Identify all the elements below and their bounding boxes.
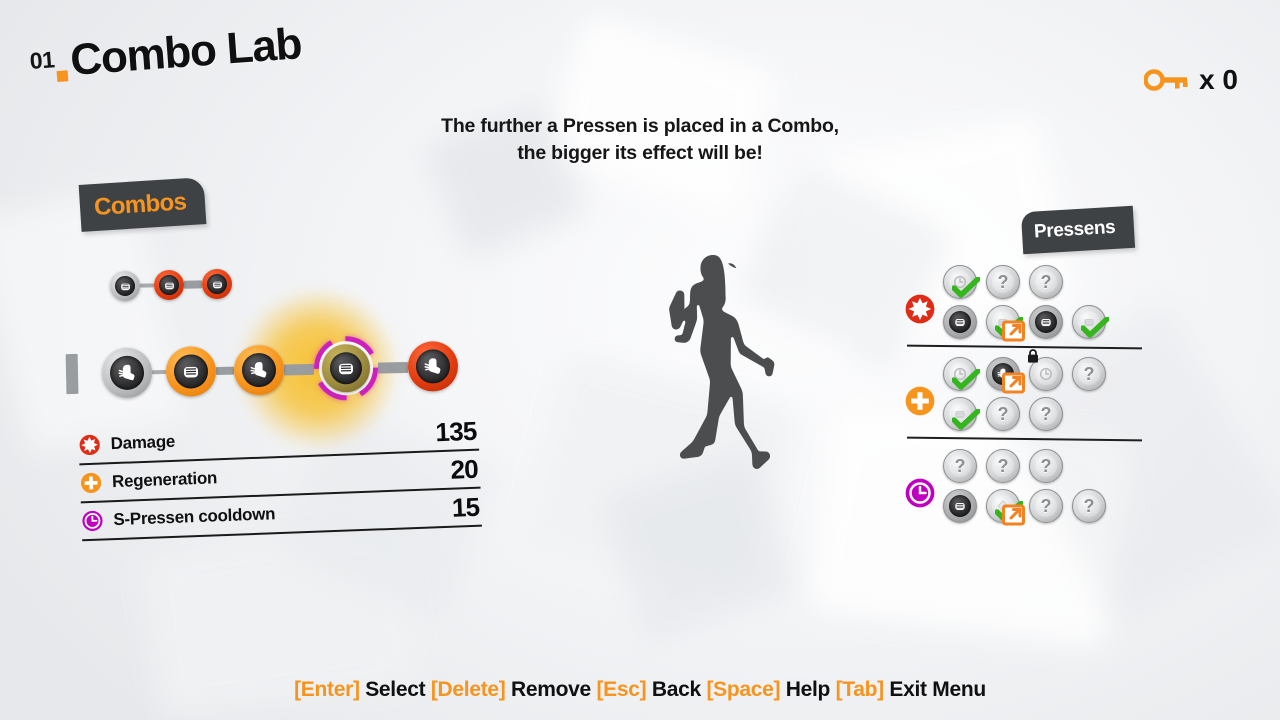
stat-value: 15 [451,492,479,524]
combo-link [216,367,234,375]
pressen-slot-unknown[interactable]: ? [1029,449,1063,483]
combo-slot-fist[interactable] [110,271,141,302]
pressen-group-regeneration: ? ? ? [895,354,1145,440]
pressen-row: ? ? [943,486,1145,526]
character-silhouette [620,245,810,525]
fist-icon [952,314,968,330]
combo-slot-kick[interactable] [407,341,458,392]
hint-action-select: Select [365,678,425,701]
check-icon [952,277,980,299]
tab-pressens-label: Pressens [1033,217,1115,244]
stat-label: Damage [110,432,175,454]
key-count-label: x 0 [1199,64,1238,96]
stat-value: 135 [435,416,477,448]
pressen-row: ? ? [943,262,1145,302]
hint-key-enter: [Enter] [294,678,360,701]
pressen-slot-owned[interactable] [1072,305,1106,339]
fist-icon [161,277,176,292]
stat-label: Regeneration [112,468,218,492]
key-icon [1144,68,1190,92]
pressen-group-damage: ? ? [895,262,1145,348]
combo-link [378,361,408,373]
damage-burst-icon [78,434,101,457]
combo-row[interactable] [110,269,233,302]
combo-slot-selected-fist[interactable] [313,336,378,401]
fist-icon [209,276,224,291]
pressen-slot-owned[interactable] [943,265,977,299]
question-icon: ? [1084,365,1095,383]
stats-panel: Damage 135 Regeneration 20 S-Pressen coo… [78,413,482,542]
combo-slot-fist[interactable] [202,269,233,300]
combo-slot-fist[interactable] [154,270,185,301]
equip-badge-icon [1002,372,1026,394]
kick-icon [115,361,139,385]
question-icon: ? [1041,457,1052,475]
combo-slot-fist[interactable] [165,346,216,397]
combo-link [284,363,314,375]
pressen-slot-owned[interactable] [943,357,977,391]
question-icon: ? [998,405,1009,423]
hint-key-tab: [Tab] [836,678,884,701]
fist-icon [952,498,968,514]
pressen-slot-unknown[interactable]: ? [1029,265,1063,299]
hint-action-back: Back [652,678,701,701]
regeneration-plus-icon [80,472,103,495]
pressen-row: ? ? [943,394,1145,434]
pressen-slot-owned[interactable] [943,397,977,431]
pressen-group-cooldown: ? ? ? [895,446,1145,526]
pressen-slot-unknown[interactable]: ? [1029,397,1063,431]
pressen-row [943,302,1145,342]
question-icon: ? [955,457,966,475]
check-icon [952,409,980,431]
combo-row[interactable] [65,334,458,406]
pressen-slot-fist[interactable] [1029,305,1063,339]
tab-pressens[interactable]: Pressens [1021,206,1135,254]
pressen-slot-equipped[interactable] [986,489,1020,523]
group-divider [907,437,1142,442]
pressen-slot-fist[interactable] [943,489,977,523]
pressen-slot-unknown[interactable]: ? [1072,489,1106,523]
question-icon: ? [1084,497,1095,515]
pressen-slot-fist[interactable] [943,305,977,339]
kick-icon [247,358,271,382]
check-icon [1081,317,1109,339]
fist-icon [179,359,203,383]
pressens-panel: ? ? [895,262,1145,526]
combo-link [140,283,154,287]
pressen-slot-unknown[interactable]: ? [986,449,1020,483]
stat-label: S-Pressen cooldown [113,504,275,530]
group-divider [907,345,1142,350]
question-icon: ? [998,273,1009,291]
stat-value: 20 [450,454,478,486]
question-icon: ? [1041,497,1052,515]
combo-slot-kick[interactable] [102,347,153,398]
fist-icon [117,278,132,293]
pressen-slot-locked[interactable] [1029,357,1063,391]
equip-badge-icon [1002,320,1026,342]
fist-icon [1038,314,1054,330]
hint-key-space: [Space] [706,678,780,701]
pressen-slot-equipped[interactable] [986,305,1020,339]
hint-key-delete: [Delete] [431,678,506,701]
damage-burst-icon [905,294,935,324]
hint-action-exit-menu: Exit Menu [889,678,985,701]
pressen-slot-unknown[interactable]: ? [986,397,1020,431]
combo-row-marker [66,354,79,394]
hint-action-remove: Remove [511,678,591,701]
pressen-slot-equipped[interactable] [986,357,1020,391]
question-icon: ? [1041,273,1052,291]
combo-link [184,280,202,288]
check-icon [952,369,980,391]
clock-icon [1038,366,1054,382]
footer-hint-bar: [Enter] Select [Delete] Remove [Esc] Bac… [0,678,1280,702]
regeneration-plus-icon [905,386,935,416]
pressen-slot-unknown[interactable]: ? [1029,489,1063,523]
pressen-row: ? ? ? [943,446,1145,486]
pressen-slot-unknown[interactable]: ? [1072,357,1106,391]
question-icon: ? [1041,405,1052,423]
kick-icon [421,354,445,378]
combo-link [152,370,166,374]
cooldown-clock-icon [905,478,935,508]
question-icon: ? [998,457,1009,475]
pressen-row: ? [943,354,1145,394]
hint-action-help: Help [786,678,830,701]
pressen-slot-unknown[interactable]: ? [986,265,1020,299]
hint-key-esc: [Esc] [596,678,646,701]
key-counter: x 0 [1144,64,1238,96]
fist-icon [334,356,358,380]
padlock-icon [1026,348,1040,364]
equip-badge-icon [1002,504,1026,526]
pressen-slot-unknown[interactable]: ? [943,449,977,483]
combo-slot-kick[interactable] [233,345,284,396]
cooldown-clock-icon [81,510,104,533]
